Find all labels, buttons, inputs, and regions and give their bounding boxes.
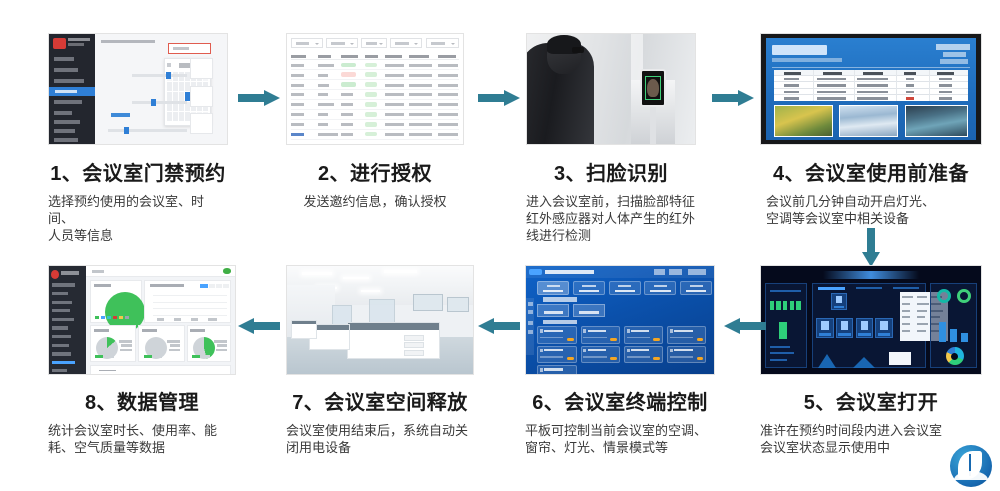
app-name-text [68, 38, 90, 41]
gallery-photo-snow-mountain [839, 105, 898, 136]
card-trend-chart [144, 280, 231, 323]
analytics-sidebar [49, 266, 86, 374]
table-row[interactable] [291, 80, 460, 90]
filter-dropdown-5[interactable] [426, 38, 460, 48]
area-chart-peak-2 [853, 357, 875, 368]
schedule-table [774, 70, 968, 101]
divider [772, 67, 970, 68]
range-button-month[interactable] [216, 284, 222, 288]
sidebar-item-1[interactable] [54, 57, 74, 61]
display-title [772, 45, 827, 54]
scene-tab-3[interactable] [609, 281, 641, 295]
main-content [95, 34, 227, 144]
section-label [111, 113, 129, 117]
sidebar-item-9[interactable] [54, 138, 78, 142]
status-badge-alert [341, 72, 356, 77]
date-input-highlighted[interactable] [168, 43, 211, 54]
status-badge [365, 82, 377, 87]
nav-item-2[interactable] [52, 292, 68, 295]
step-6-body-line-2: 窗帘、灯光、情景模式等 [525, 439, 715, 456]
table-row[interactable] [291, 100, 460, 110]
step-5: 5、会议室打开 准许在预约时间段内进入会议室 会议室状态显示使用中 [760, 265, 982, 456]
right-bar-1 [939, 322, 946, 341]
legend-item [113, 316, 117, 319]
scene-button-2[interactable] [573, 304, 605, 317]
legend-item [107, 316, 111, 319]
arrow-2-3 [478, 90, 520, 106]
area-chart-peak-1 [818, 354, 836, 368]
timeline-slider-2[interactable] [132, 101, 187, 104]
status-indicator-2 [669, 269, 682, 275]
left-bar-2 [776, 301, 780, 311]
nav-item-3[interactable] [52, 301, 72, 304]
nav-item-active[interactable] [52, 361, 75, 364]
breadcrumb [101, 40, 155, 43]
step-4-body-line-2: 空调等会议室中相关设备 [766, 210, 982, 227]
step-5-screenshot[interactable] [760, 265, 982, 375]
nav-item-6[interactable] [52, 326, 68, 329]
card-energy [138, 325, 185, 362]
center-tab-2[interactable] [856, 287, 882, 289]
status-badge [341, 63, 356, 68]
arrow-7-8 [238, 318, 280, 334]
table-row[interactable] [291, 60, 460, 70]
step-2-screenshot[interactable] [286, 33, 464, 145]
legend-item [106, 355, 114, 358]
step-3-body-line-3: 线进行检测 [526, 227, 696, 244]
schedule-row-active [774, 95, 968, 101]
gallery-photo-lake [905, 105, 968, 136]
summary-card-3 [190, 113, 212, 134]
app-logo-icon [53, 38, 66, 49]
step-4: 4、会议室使用前准备 会议前几分钟自动开启灯光、 空调等会议室中相关设备 [760, 33, 982, 227]
status-badge [365, 92, 377, 97]
left-panel-line [770, 290, 801, 292]
card-bottom-table [90, 365, 231, 375]
scene-tab-5[interactable] [680, 281, 712, 295]
sidebar-item-8[interactable] [54, 129, 75, 133]
arrow-3-4 [712, 90, 754, 106]
step-3-title: 3、扫脸识别 [526, 157, 696, 186]
legend-item [95, 316, 99, 319]
step-6: 6、会议室终端控制 平板可控制当前会议室的空调、 窗帘、灯光、情景模式等 [525, 265, 715, 456]
nav-item-5[interactable] [52, 318, 74, 321]
status-indicator-3 [688, 269, 707, 275]
status-badge [365, 132, 377, 137]
sidebar-item-7[interactable] [54, 120, 80, 124]
step-8-body-line-1: 统计会议室时长、使用率、能 [48, 422, 236, 439]
device-card-2 [836, 318, 854, 339]
center-tab-3[interactable] [893, 287, 919, 289]
range-button-active[interactable] [200, 284, 209, 288]
flow-diagram-page: 1、会议室门禁预约 选择预约使用的会议室、时间、 人员等信息 [0, 0, 1000, 491]
table-row[interactable] [291, 110, 460, 120]
display-subtitle [772, 58, 841, 62]
step-3-body-line-1: 进入会议室前，扫描脸部特征 [526, 193, 696, 210]
summary-card-2 [190, 86, 212, 107]
step-2: 2、进行授权 发送邀约信息，确认授权 [286, 33, 464, 210]
step-3-screenshot[interactable] [526, 33, 696, 145]
status-badge [341, 82, 356, 87]
legend-item [154, 355, 162, 358]
device-card-top [831, 293, 846, 310]
table-row[interactable] [291, 120, 460, 130]
scene-tab-4[interactable] [644, 281, 676, 295]
ceiling-light-1 [302, 272, 332, 275]
step-6-title: 6、会议室终端控制 [525, 386, 715, 415]
timeline-slider-3[interactable] [108, 129, 187, 132]
analytics-topbar [86, 266, 235, 277]
summary-card-1 [190, 58, 212, 79]
step-7-body-line-1: 会议室使用结束后，系统自动关 [286, 422, 474, 439]
device-card-sensor[interactable] [667, 346, 706, 363]
ceiling-light-3 [384, 270, 417, 273]
panel-logo-icon [529, 269, 542, 275]
nav-item-11[interactable] [52, 369, 67, 372]
card-pie-overview [90, 280, 142, 323]
brand-watermark-logo [950, 445, 992, 487]
section-title-devices [543, 320, 577, 324]
table-row[interactable] [291, 70, 460, 80]
step-8: 8、数据管理 统计会议室时长、使用率、能 耗、空气质量等数据 [48, 265, 236, 456]
step-1-screenshot[interactable] [48, 33, 228, 145]
step-1-title: 1、会议室门禁预约 [40, 157, 236, 186]
scene-button-1[interactable] [537, 304, 569, 317]
step-5-title: 5、会议室打开 [760, 386, 982, 415]
legend-item [95, 355, 103, 358]
ceiling-light-5 [361, 290, 380, 293]
step-5-body-line-1: 准许在预约时间段内进入会议室 [760, 422, 982, 439]
step-7-body-line-2: 闭用电设备 [286, 439, 474, 456]
right-bar-2 [950, 329, 957, 342]
step-1-body-line-1: 选择预约使用的会议室、时间、 [48, 193, 228, 227]
nav-item-8[interactable] [52, 344, 69, 347]
left-legend-2 [770, 352, 794, 354]
device-card-1 [816, 318, 834, 339]
nav-item-7[interactable] [52, 335, 71, 338]
display-date [936, 44, 970, 49]
brand-name-text [61, 271, 80, 274]
step-6-body-line-1: 平板可控制当前会议室的空调、 [525, 422, 715, 439]
filter-dropdown-3[interactable] [361, 38, 386, 48]
dashboard-title-bar [823, 271, 920, 279]
face-scanner-screen[interactable] [640, 69, 667, 106]
left-bar-1 [770, 301, 774, 311]
lab-bench-back [291, 320, 317, 339]
step-8-title: 8、数据管理 [48, 386, 236, 415]
status-indicator-1 [654, 269, 665, 275]
device-card-curtain[interactable] [581, 326, 620, 343]
step-3: 3、扫脸识别 进入会议室前，扫描脸部特征 红外感应器对人体产生的红外 线进行检测 [526, 33, 696, 244]
display-clock [940, 59, 967, 64]
table-row[interactable] [291, 130, 460, 140]
arrow-1-2 [238, 90, 280, 106]
gauge-ring-2 [957, 289, 971, 303]
sidebar-item-5[interactable] [54, 100, 82, 104]
face-detect-box [645, 76, 661, 100]
nav-item-1[interactable] [52, 283, 75, 286]
sidebar-item-6[interactable] [54, 111, 72, 115]
device-card-extra[interactable] [537, 365, 576, 375]
legend-item [202, 355, 210, 358]
step-8-screenshot[interactable] [48, 265, 236, 375]
device-card-4 [875, 318, 893, 339]
glasses-icon [572, 47, 584, 53]
device-card-fresh-air[interactable] [624, 346, 663, 363]
device-card-light[interactable] [624, 326, 663, 343]
step-4-screenshot[interactable] [760, 33, 982, 145]
step-7-screenshot[interactable] [286, 265, 474, 375]
step-6-screenshot[interactable] [525, 265, 715, 375]
filter-dropdown-1[interactable] [291, 38, 323, 48]
side-rail[interactable] [526, 298, 534, 354]
gallery-photo-autumn [774, 105, 833, 136]
device-card-screen[interactable] [537, 346, 576, 363]
ceiling-light-2 [343, 277, 369, 280]
filter-row [291, 38, 460, 48]
step-7-title: 7、会议室空间释放 [286, 386, 474, 415]
table-row[interactable] [291, 90, 460, 100]
legend-item [192, 355, 200, 358]
device-card-3 [856, 318, 874, 339]
arrow-5-6 [724, 318, 766, 334]
scene-tab-1[interactable] [537, 281, 569, 295]
step-8-body-line-2: 耗、空气质量等数据 [48, 439, 236, 456]
filter-dropdown-2[interactable] [326, 38, 358, 48]
card-usage-rate [90, 325, 137, 362]
step-4-body-line-1: 会议前几分钟自动开启灯光、 [766, 193, 982, 210]
range-button-week[interactable] [209, 284, 215, 288]
step-5-body-line-2: 会议室状态显示使用中 [760, 439, 982, 456]
lab-bench-front [347, 322, 440, 359]
sidebar-item-3[interactable] [54, 79, 84, 83]
table-header-row [291, 53, 460, 61]
center-tab-1[interactable] [818, 287, 844, 290]
step-4-title: 4、会议室使用前准备 [760, 157, 982, 186]
panel-title [545, 270, 594, 274]
left-gauge-column [779, 322, 788, 339]
sidebar-item-2[interactable] [54, 68, 78, 72]
avatar[interactable] [223, 268, 230, 273]
arrow-4-5 [862, 228, 880, 268]
right-bar-3 [961, 333, 968, 342]
nav-item-9[interactable] [52, 352, 71, 355]
room-info-panel [766, 38, 976, 139]
display-weekday [943, 52, 966, 57]
calendar-prev-icon[interactable] [167, 63, 170, 67]
step-1: 1、会议室门禁预约 选择预约使用的会议室、时间、 人员等信息 [48, 33, 228, 244]
status-badge [365, 102, 377, 107]
legend-item [119, 316, 123, 319]
left-bar-4 [790, 301, 794, 311]
nav-item-4[interactable] [52, 309, 70, 312]
app-subtitle-text [68, 43, 84, 46]
range-button-year[interactable] [223, 284, 229, 288]
timeline-slider-1[interactable] [132, 74, 187, 77]
left-legend-1 [770, 346, 790, 348]
status-badge [365, 122, 377, 127]
step-3-body-line-2: 红外感应器对人体产生的红外 [526, 210, 696, 227]
left-legend-3 [770, 359, 788, 361]
step-2-body-line-1: 发送邀约信息，确认授权 [286, 193, 464, 210]
device-card-projector[interactable] [667, 326, 706, 343]
device-card-ac[interactable] [537, 326, 576, 343]
filter-dropdown-4[interactable] [390, 38, 422, 48]
chart-tooltip [889, 352, 911, 365]
status-badge [365, 112, 377, 117]
card-air-quality [187, 325, 232, 362]
legend-item [101, 316, 105, 319]
arrow-6-7 [478, 318, 520, 334]
status-badge [365, 72, 377, 77]
legend-item [144, 355, 152, 358]
step-2-title: 2、进行授权 [286, 157, 464, 186]
wall-monitor-1 [413, 294, 443, 311]
device-card-audio[interactable] [581, 346, 620, 363]
left-bar-3 [783, 301, 787, 311]
section-title-scene [543, 297, 577, 301]
brand-logo-icon [51, 270, 59, 279]
legend-item [125, 316, 129, 319]
step-1-body-line-2: 人员等信息 [48, 227, 228, 244]
scene-tab-2[interactable] [573, 281, 605, 295]
left-bar-5 [796, 301, 800, 311]
gauge-ring-1 [937, 289, 951, 303]
wall-monitor-2 [447, 297, 469, 312]
status-badge [365, 63, 377, 68]
step-7: 7、会议室空间释放 会议室使用结束后，系统自动关 闭用电设备 [286, 265, 474, 456]
